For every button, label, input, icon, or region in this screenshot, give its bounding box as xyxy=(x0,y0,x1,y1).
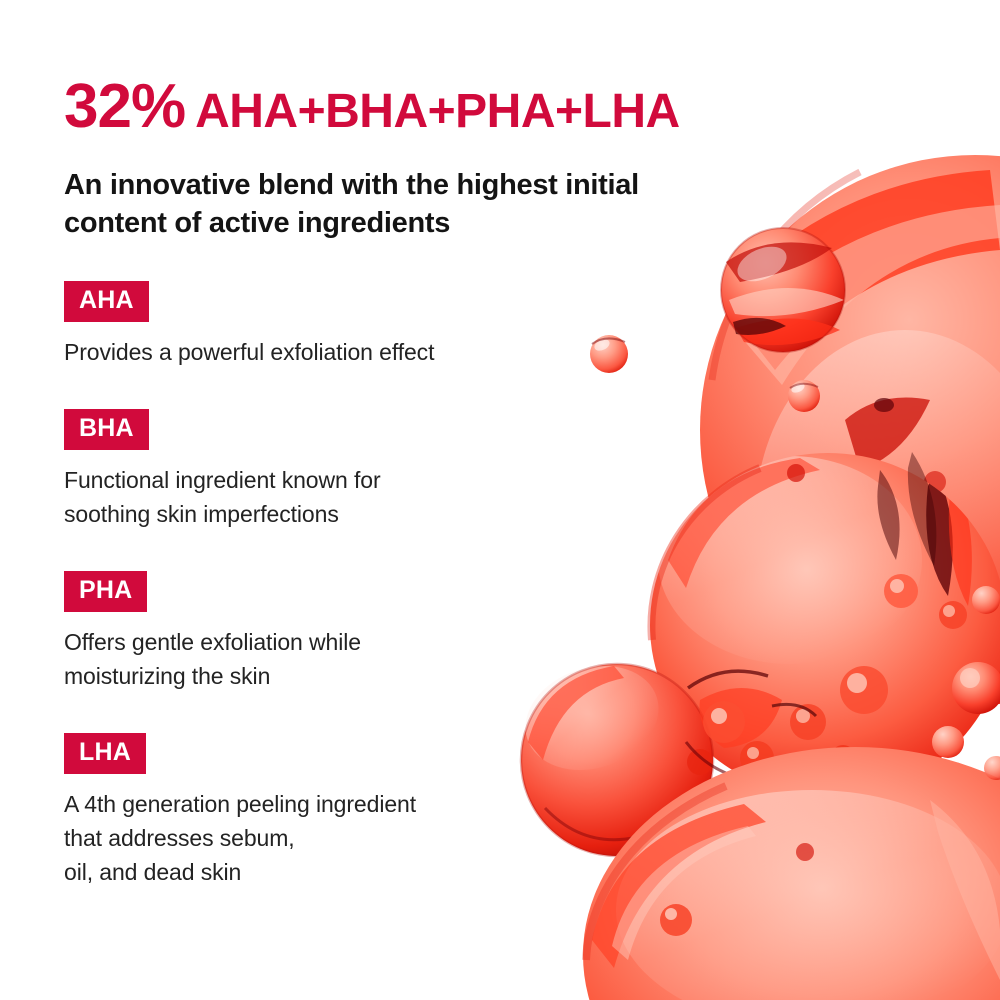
ingredient-item-pha: PHA Offers gentle exfoliation while mois… xyxy=(64,571,584,693)
badge-bha: BHA xyxy=(64,409,149,450)
ingredient-description-pha: Offers gentle exfoliation while moisturi… xyxy=(64,625,584,693)
desc-line: Offers gentle exfoliation while xyxy=(64,625,584,659)
desc-line: oil, and dead skin xyxy=(64,855,584,889)
ingredient-item-lha: LHA A 4th generation peeling ingredient … xyxy=(64,733,584,889)
desc-line: soothing skin imperfections xyxy=(64,497,584,531)
text-content: 32%AHA+BHA+PHA+LHA An innovative blend w… xyxy=(0,0,1000,1000)
badge-lha: LHA xyxy=(64,733,146,774)
badge-aha: AHA xyxy=(64,281,149,322)
badge-pha: PHA xyxy=(64,571,147,612)
ingredient-item-bha: BHA Functional ingredient known for soot… xyxy=(64,409,584,531)
subtitle-line-2: content of active ingredients xyxy=(64,204,784,242)
desc-line: moisturizing the skin xyxy=(64,659,584,693)
ingredient-item-aha: AHA Provides a powerful exfoliation effe… xyxy=(64,281,584,369)
acid-blend-label: AHA+BHA+PHA+LHA xyxy=(195,85,680,138)
promo-infographic: 32%AHA+BHA+PHA+LHA An innovative blend w… xyxy=(0,0,1000,1000)
page-title: 32%AHA+BHA+PHA+LHA xyxy=(64,76,680,138)
desc-line: Functional ingredient known for xyxy=(64,463,584,497)
subtitle: An innovative blend with the highest ini… xyxy=(64,166,784,243)
ingredient-description-lha: A 4th generation peeling ingredient that… xyxy=(64,787,584,889)
ingredient-description-aha: Provides a powerful exfoliation effect xyxy=(64,335,584,369)
ingredient-description-bha: Functional ingredient known for soothing… xyxy=(64,463,584,531)
desc-line: that addresses sebum, xyxy=(64,821,584,855)
desc-line: Provides a powerful exfoliation effect xyxy=(64,335,584,369)
subtitle-line-1: An innovative blend with the highest ini… xyxy=(64,166,784,204)
desc-line: A 4th generation peeling ingredient xyxy=(64,787,584,821)
percentage-value: 32% xyxy=(64,72,185,141)
ingredient-list: AHA Provides a powerful exfoliation effe… xyxy=(64,281,584,889)
